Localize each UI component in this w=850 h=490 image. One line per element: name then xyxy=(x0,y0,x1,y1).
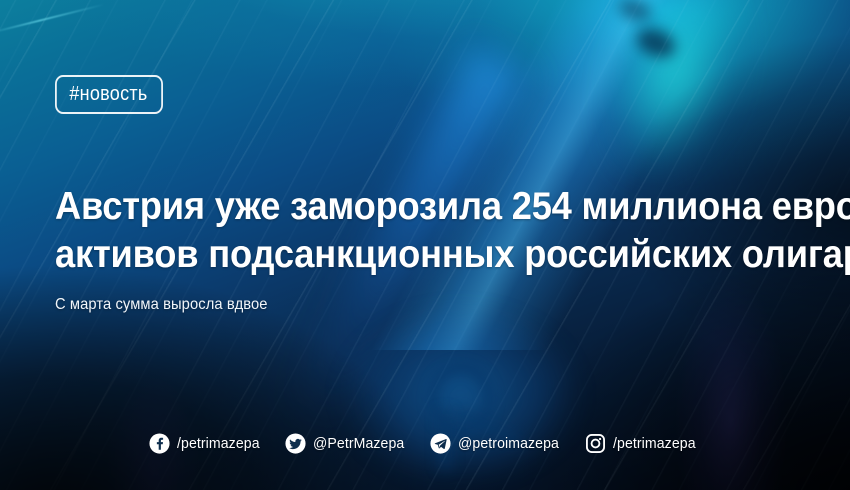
hashtag-badge[interactable]: #новость xyxy=(55,75,163,114)
headline-line-1: Австрия уже заморозила 254 миллиона евро xyxy=(55,183,762,231)
subtitle: С марта сумма выросла вдвое xyxy=(55,296,268,314)
card-content: #новость Австрия уже заморозила 254 милл… xyxy=(0,0,850,490)
telegram-icon xyxy=(430,433,451,454)
social-link-instagram[interactable]: /petrimazepa xyxy=(585,433,701,454)
news-card: #новость Австрия уже заморозила 254 милл… xyxy=(0,0,850,490)
social-links-bar: /petrimazepa @PetrMazepa @petroimazepa xyxy=(0,433,850,454)
social-link-facebook[interactable]: /petrimazepa xyxy=(149,433,265,454)
twitter-icon xyxy=(285,433,306,454)
social-handle-twitter: @PetrMazepa xyxy=(313,435,404,452)
social-handle-facebook: /petrimazepa xyxy=(177,435,260,452)
social-handle-telegram: @petroimazepa xyxy=(458,435,559,452)
instagram-icon xyxy=(585,433,606,454)
social-handle-instagram: /petrimazepa xyxy=(613,435,696,452)
social-link-telegram[interactable]: @petroimazepa xyxy=(430,433,565,454)
social-link-twitter[interactable]: @PetrMazepa xyxy=(285,433,410,454)
page-title: Австрия уже заморозила 254 миллиона евро… xyxy=(55,183,762,278)
headline-line-2: активов подсанкционных российских олигар… xyxy=(55,231,762,279)
facebook-icon xyxy=(149,433,170,454)
